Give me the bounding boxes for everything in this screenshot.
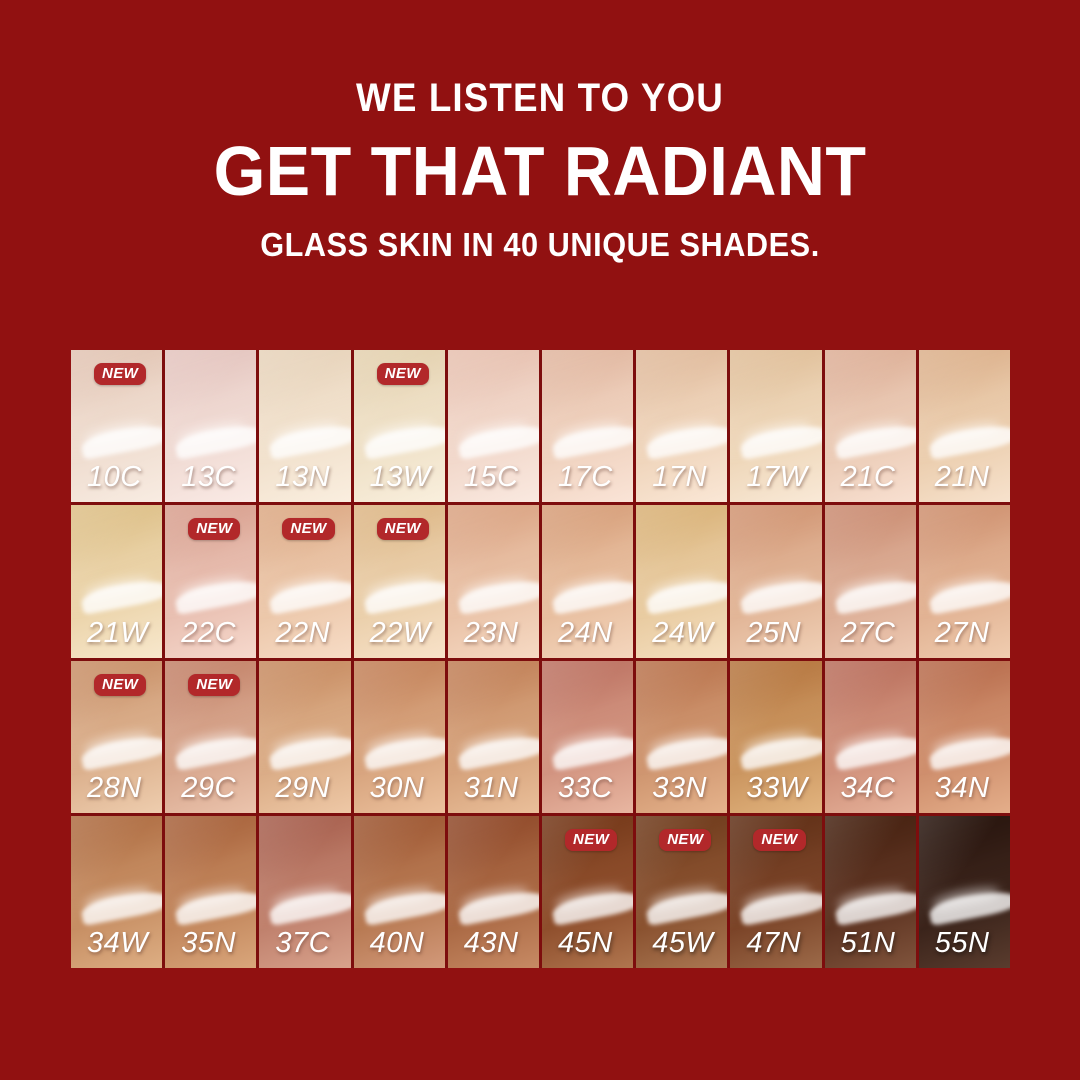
- shade-swatch[interactable]: NEW22N: [259, 505, 350, 657]
- shade-label: 13N: [275, 463, 330, 492]
- shade-swatch[interactable]: 13C: [165, 350, 256, 502]
- shade-swatch[interactable]: 17C: [542, 350, 633, 502]
- new-badge: NEW: [188, 674, 240, 696]
- new-badge: NEW: [377, 363, 429, 385]
- shade-label: 17N: [652, 463, 707, 492]
- shade-label: 45N: [558, 929, 613, 958]
- shade-swatch[interactable]: NEW29C: [165, 661, 256, 813]
- shade-swatch[interactable]: NEW10C: [71, 350, 162, 502]
- new-badge: NEW: [282, 518, 334, 540]
- shade-label: 33W: [746, 774, 807, 803]
- shade-label: 21W: [87, 619, 148, 648]
- shade-swatch[interactable]: NEW22W: [354, 505, 445, 657]
- shade-label: 29N: [275, 774, 330, 803]
- poster-canvas: WE LISTEN TO YOU GET THAT RADIANT GLASS …: [0, 0, 1080, 1080]
- shade-grid: NEW10C13C13NNEW13W15C17C17N17W21C21N21WN…: [71, 350, 1010, 968]
- shade-label: 35N: [181, 929, 236, 958]
- shade-label: 13W: [370, 463, 431, 492]
- shade-swatch[interactable]: 43N: [448, 816, 539, 968]
- shade-swatch[interactable]: 31N: [448, 661, 539, 813]
- shade-swatch[interactable]: 24N: [542, 505, 633, 657]
- shade-label: 29C: [181, 774, 236, 803]
- shade-label: 27N: [935, 619, 990, 648]
- shade-label: 23N: [464, 619, 519, 648]
- new-badge: NEW: [94, 363, 146, 385]
- shade-swatch[interactable]: 34W: [71, 816, 162, 968]
- shade-label: 28N: [87, 774, 142, 803]
- shade-label: 13C: [181, 463, 236, 492]
- shade-swatch[interactable]: 21W: [71, 505, 162, 657]
- shade-label: 17W: [746, 463, 807, 492]
- shade-swatch[interactable]: 29N: [259, 661, 350, 813]
- shade-label: 22N: [275, 619, 330, 648]
- shade-label: 55N: [935, 929, 990, 958]
- shade-label: 34C: [841, 774, 896, 803]
- shade-swatch[interactable]: 25N: [730, 505, 821, 657]
- shade-label: 25N: [746, 619, 801, 648]
- shade-label: 51N: [841, 929, 896, 958]
- new-badge: NEW: [753, 829, 805, 851]
- shade-label: 45W: [652, 929, 713, 958]
- shade-label: 21N: [935, 463, 990, 492]
- shade-swatch[interactable]: 51N: [825, 816, 916, 968]
- shade-label: 40N: [370, 929, 425, 958]
- shade-swatch[interactable]: 23N: [448, 505, 539, 657]
- shade-swatch[interactable]: 24W: [636, 505, 727, 657]
- shade-label: 22C: [181, 619, 236, 648]
- shade-swatch[interactable]: NEW45W: [636, 816, 727, 968]
- new-badge: NEW: [565, 829, 617, 851]
- shade-swatch[interactable]: 33W: [730, 661, 821, 813]
- shade-swatch[interactable]: 15C: [448, 350, 539, 502]
- shade-swatch[interactable]: 40N: [354, 816, 445, 968]
- shade-label: 15C: [464, 463, 519, 492]
- shade-swatch[interactable]: 34C: [825, 661, 916, 813]
- new-badge: NEW: [377, 518, 429, 540]
- shade-swatch[interactable]: 13N: [259, 350, 350, 502]
- shade-swatch[interactable]: 33C: [542, 661, 633, 813]
- new-badge: NEW: [188, 518, 240, 540]
- shade-label: 27C: [841, 619, 896, 648]
- shade-swatch[interactable]: NEW22C: [165, 505, 256, 657]
- shade-swatch[interactable]: 21N: [919, 350, 1010, 502]
- shade-swatch[interactable]: 30N: [354, 661, 445, 813]
- shade-label: 37C: [275, 929, 330, 958]
- shade-label: 22W: [370, 619, 431, 648]
- subheading-text: GLASS SKIN IN 40 UNIQUE SHADES.: [38, 228, 1042, 261]
- page-title: GET THAT RADIANT: [27, 136, 1053, 206]
- shade-swatch[interactable]: NEW47N: [730, 816, 821, 968]
- shade-label: 24N: [558, 619, 613, 648]
- shade-swatch[interactable]: 27N: [919, 505, 1010, 657]
- header-block: WE LISTEN TO YOU GET THAT RADIANT GLASS …: [0, 78, 1080, 261]
- shade-label: 34N: [935, 774, 990, 803]
- shade-swatch[interactable]: NEW45N: [542, 816, 633, 968]
- shade-label: 47N: [746, 929, 801, 958]
- shade-swatch[interactable]: 21C: [825, 350, 916, 502]
- shade-label: 33C: [558, 774, 613, 803]
- shade-label: 17C: [558, 463, 613, 492]
- shade-label: 21C: [841, 463, 896, 492]
- shade-swatch[interactable]: 33N: [636, 661, 727, 813]
- shade-swatch[interactable]: 55N: [919, 816, 1010, 968]
- shade-swatch[interactable]: 17W: [730, 350, 821, 502]
- shade-label: 30N: [370, 774, 425, 803]
- shade-swatch[interactable]: 35N: [165, 816, 256, 968]
- shade-swatch[interactable]: 34N: [919, 661, 1010, 813]
- shade-label: 24W: [652, 619, 713, 648]
- shade-label: 34W: [87, 929, 148, 958]
- shade-label: 33N: [652, 774, 707, 803]
- shade-label: 10C: [87, 463, 142, 492]
- new-badge: NEW: [659, 829, 711, 851]
- shade-swatch[interactable]: NEW13W: [354, 350, 445, 502]
- eyebrow-text: WE LISTEN TO YOU: [43, 78, 1037, 118]
- shade-label: 31N: [464, 774, 519, 803]
- shade-label: 43N: [464, 929, 519, 958]
- shade-swatch[interactable]: NEW28N: [71, 661, 162, 813]
- shade-swatch[interactable]: 37C: [259, 816, 350, 968]
- shade-swatch[interactable]: 27C: [825, 505, 916, 657]
- new-badge: NEW: [94, 674, 146, 696]
- shade-swatch[interactable]: 17N: [636, 350, 727, 502]
